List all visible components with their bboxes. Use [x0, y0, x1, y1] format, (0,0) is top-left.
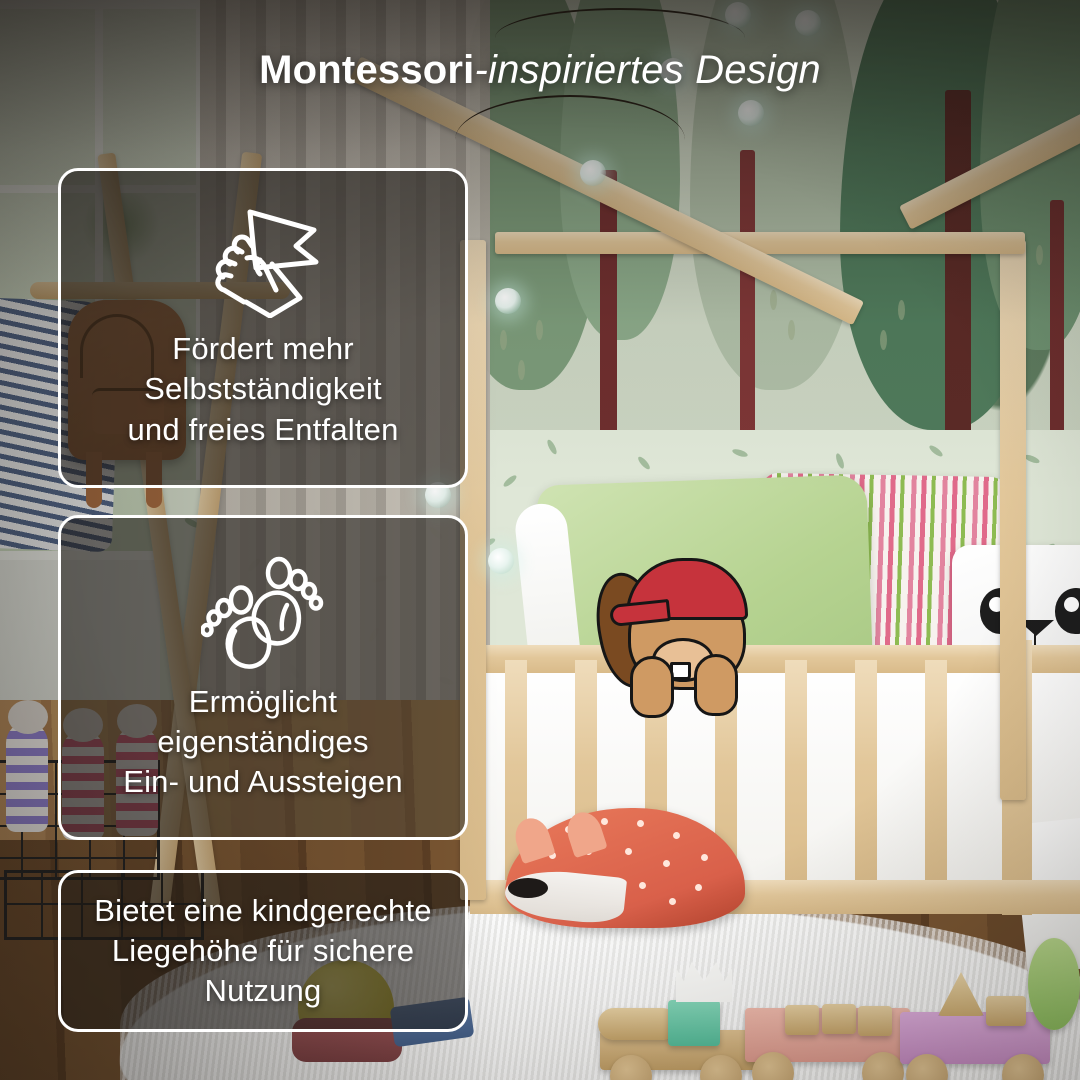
feature-line-2: Liegehöhe für sichere — [94, 931, 431, 971]
guard-rail-top — [470, 645, 1080, 673]
toy-wheel-green — [1028, 938, 1080, 1030]
title-bold: Montessori — [259, 48, 474, 92]
beaver-mascot — [590, 530, 765, 715]
toy-train-green-block — [668, 1000, 720, 1046]
feature-card-2[interactable]: Ermöglicht eigenständiges Ein- und Ausst… — [58, 515, 468, 840]
feature-card-3-text: Bietet eine kindgerechte Liegehöhe für s… — [94, 891, 431, 1012]
string-light-bulb — [795, 10, 821, 36]
feature-line-1: Fördert mehr — [127, 329, 398, 369]
plush-giraffe-purple — [6, 722, 48, 832]
bed-post-right — [1000, 240, 1026, 800]
fox-snout — [508, 878, 548, 898]
string-light-bulb — [725, 2, 751, 28]
toy-block — [858, 1006, 892, 1036]
hand-holding-flag-icon — [204, 206, 322, 323]
string-light-wire — [455, 95, 685, 185]
toy-train-log — [598, 1008, 678, 1040]
feature-line-3: Ein- und Aussteigen — [123, 762, 403, 802]
string-light-bulb — [488, 548, 514, 574]
footprints-icon — [201, 553, 325, 676]
feature-line-3: Nutzung — [94, 971, 431, 1011]
title-italic: -inspiriertes Design — [475, 48, 821, 92]
feature-card-1-text: Fördert mehr Selbstständigkeit und freie… — [127, 329, 398, 450]
string-light-bulb — [580, 160, 606, 186]
toy-block — [785, 1005, 819, 1035]
page-title: Montessori-inspiriertes Design — [0, 48, 1080, 92]
beaver-paw-right — [694, 654, 738, 716]
product-feature-image: Montessori-inspiriertes Design Fördert m… — [0, 0, 1080, 1080]
plush-giraffe-purple-head — [8, 700, 48, 734]
guard-rail-slat — [925, 660, 947, 895]
toy-block — [822, 1004, 856, 1034]
string-light-bulb — [738, 100, 764, 126]
feature-line-2: Selbstständigkeit — [127, 369, 398, 409]
toy-block — [986, 996, 1026, 1026]
feature-card-1[interactable]: Fördert mehr Selbstständigkeit und freie… — [58, 168, 468, 488]
guard-rail-slat — [855, 660, 877, 895]
feature-card-3[interactable]: Bietet eine kindgerechte Liegehöhe für s… — [58, 870, 468, 1032]
beaver-paw-left — [630, 656, 674, 718]
feature-card-2-text: Ermöglicht eigenständiges Ein- und Ausst… — [123, 682, 403, 803]
guard-rail-slat — [785, 660, 807, 895]
feature-line-2: eigenständiges — [123, 722, 403, 762]
feature-line-1: Ermöglicht — [123, 682, 403, 722]
feature-line-1: Bietet eine kindgerechte — [94, 891, 431, 931]
feature-line-3: und freies Entfalten — [127, 410, 398, 450]
string-light-bulb — [495, 288, 521, 314]
